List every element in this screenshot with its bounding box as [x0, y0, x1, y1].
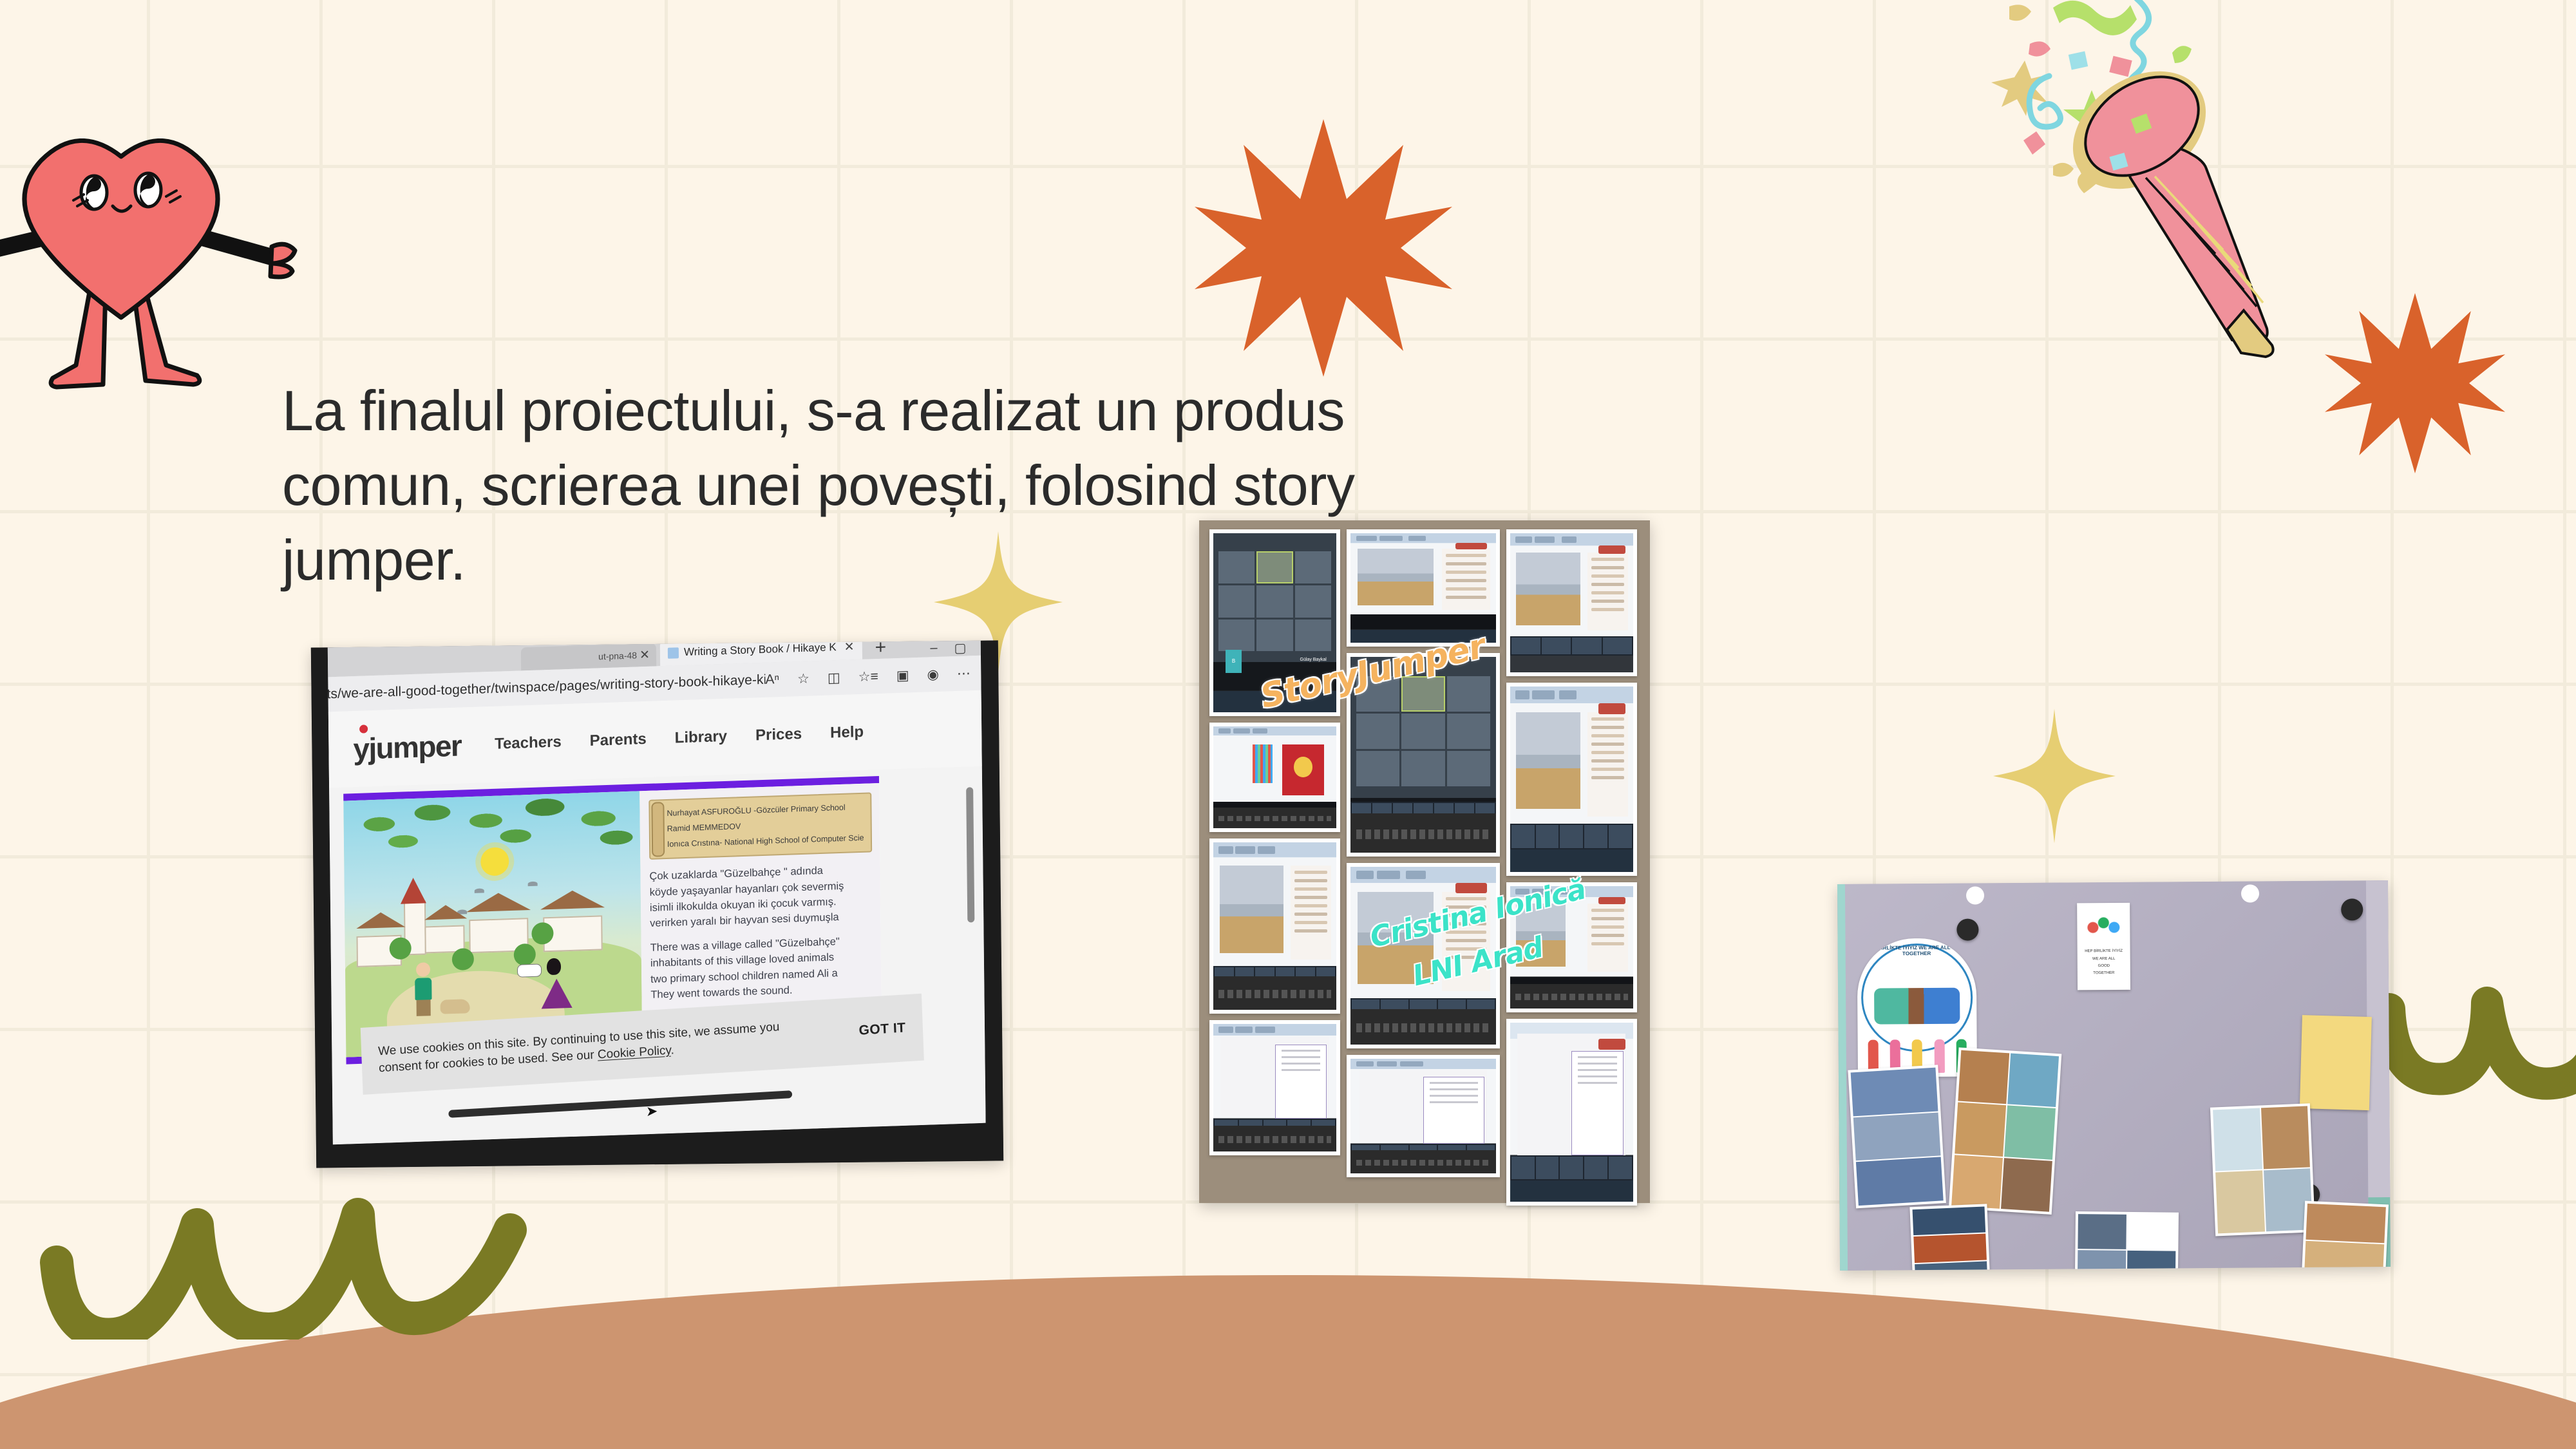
- collage-photo-editor-classroom-3[interactable]: [1506, 683, 1637, 876]
- collage-photo-laptop-story-page[interactable]: [1506, 882, 1637, 1012]
- nav-item-teachers[interactable]: Teachers: [495, 733, 562, 753]
- browser-essentials-icon[interactable]: ▣: [896, 667, 909, 684]
- close-icon[interactable]: ✕: [844, 640, 854, 654]
- cookie-banner-text: We use cookies on this site. By continui…: [377, 1015, 848, 1077]
- starburst-icon: [1195, 119, 1452, 377]
- nav-item-parents[interactable]: Parents: [589, 730, 646, 750]
- project-logo-card: HEP BİRLİKTE İYİYİZ WE ARE ALL GOOD TOGE…: [2077, 903, 2130, 990]
- collections-icon[interactable]: ◫: [827, 669, 840, 686]
- board-photo-card-etwinning-day: [2074, 1211, 2179, 1271]
- nav-item-library[interactable]: Library: [674, 728, 727, 748]
- tab-active-label: Writing a Story Book / Hikaye K: [683, 641, 836, 659]
- storyjumper-logo[interactable]: yjumper: [353, 728, 461, 767]
- etwinning-bulletin-board-photo[interactable]: HEP BİRLİKTE İYİYİZ WE ARE ALL GOOD TOGE…: [1837, 880, 2391, 1271]
- logo-dot-icon: [359, 724, 368, 733]
- new-tab-button[interactable]: +: [875, 640, 886, 659]
- cookie-accept-button[interactable]: GOT IT: [858, 1020, 906, 1038]
- favicon-icon: [667, 647, 678, 659]
- board-photo-card-crafts-1: [2210, 1103, 2315, 1236]
- story-text-english: There was a village called "Güzelbahçe" …: [650, 933, 873, 1003]
- starburst-icon: [2325, 293, 2505, 473]
- squiggle-icon: [39, 1179, 528, 1340]
- project-logo-icon: [2082, 911, 2125, 943]
- maximize-button[interactable]: ▢: [954, 640, 966, 656]
- board-photo-card-letters: [1949, 1047, 2061, 1215]
- close-icon[interactable]: ✕: [639, 647, 650, 663]
- board-photo-card-crafts-2: [2300, 1201, 2389, 1271]
- story-text-turkish: Çok uzaklarda "Güzelbahçe " adında köyde…: [649, 862, 873, 932]
- board-photo-card-students: [1848, 1065, 1946, 1208]
- collage-column-middle: [1347, 529, 1500, 1194]
- minimize-button[interactable]: –: [930, 641, 937, 657]
- vertical-scrollbar[interactable]: [965, 787, 974, 922]
- handshake-icon: [1874, 988, 1960, 1025]
- site-nav: Teachers Parents Library Prices Help: [495, 723, 864, 753]
- collage-photo-editor-classroom-1[interactable]: [1347, 529, 1500, 647]
- poster-logos: [1837, 884, 2388, 905]
- collage-column-right: [1506, 529, 1637, 1194]
- url-bar-icons: Aⁿ ☆ ◫ ☆≡ ▣ ◉ ⋯: [765, 665, 971, 688]
- project-logo-card-text: HEP BİRLİKTE İYİYİZ WE ARE ALL GOOD TOGE…: [2078, 948, 2130, 978]
- participant-name: Gülay Baykal: [1300, 658, 1327, 662]
- board-photo-card-yellow-poster-small: [2300, 1015, 2372, 1110]
- window-controls: – ▢: [930, 640, 980, 657]
- collage-photo-desktop-red-poster[interactable]: [1209, 723, 1340, 832]
- credits-scroll: Nurhayat ASFUROĞLU -Gözcüler Primary Sch…: [649, 792, 872, 860]
- url-text: ts/we-are-all-good-together/twinspace/pa…: [327, 672, 765, 703]
- more-icon[interactable]: ⋯: [956, 665, 970, 682]
- read-aloud-icon[interactable]: Aⁿ: [765, 672, 779, 688]
- cookie-policy-link[interactable]: Cookie Policy: [597, 1043, 670, 1061]
- storyjumper-photo-collage[interactable]: B Gülay Baykal: [1199, 520, 1650, 1203]
- collage-photo-monitor-story-2[interactable]: [1347, 863, 1500, 1048]
- magnet-icon: [1956, 918, 1978, 940]
- collage-column-left: B Gülay Baykal: [1209, 529, 1340, 1194]
- storyjumper-page: yjumper Teachers Parents Library Prices …: [328, 690, 985, 1144]
- storyjumper-browser-photo[interactable]: ut-pna-48 ✕ Writing a Story Book / Hikay…: [311, 640, 1003, 1168]
- collage-photo-monitor-blank-story[interactable]: [1506, 1019, 1637, 1206]
- participant-initial: B: [1226, 650, 1242, 673]
- split-screen-icon[interactable]: ◉: [927, 666, 939, 683]
- mouse-cursor-icon: ➤: [645, 1103, 658, 1120]
- collage-photo-video-call-grid[interactable]: [1347, 653, 1500, 857]
- round-badge-text: HEP BİRLİKTE İYİYİZ WE ARE ALL GOOD TOGE…: [1857, 944, 1976, 956]
- cookie-text-period: .: [670, 1043, 674, 1057]
- collage-photo-video-call-participants[interactable]: B Gülay Baykal: [1209, 529, 1340, 716]
- nav-item-prices[interactable]: Prices: [755, 725, 802, 744]
- board-photo-card-screens: [1909, 1204, 1991, 1271]
- heart-character-icon: [0, 138, 316, 409]
- sparkle-icon: [1993, 708, 2116, 844]
- collage-photo-editor-classroom-2[interactable]: [1506, 529, 1637, 676]
- collage-photo-laptop-editor-1[interactable]: [1209, 1020, 1340, 1155]
- collage-photo-laptop-editor-2[interactable]: [1347, 1055, 1500, 1177]
- tab-inactive-label: ut-pna-48: [598, 650, 637, 661]
- favorites-bar-icon[interactable]: ☆≡: [858, 668, 878, 685]
- nav-item-help[interactable]: Help: [830, 723, 864, 743]
- monitor-screen: ut-pna-48 ✕ Writing a Story Book / Hikay…: [327, 640, 985, 1144]
- collage-photo-monitor-story-1[interactable]: [1209, 838, 1340, 1014]
- horizontal-scrollbar[interactable]: [448, 1090, 792, 1118]
- favorite-star-icon[interactable]: ☆: [797, 670, 810, 687]
- squiggle-icon: [2376, 982, 2576, 1117]
